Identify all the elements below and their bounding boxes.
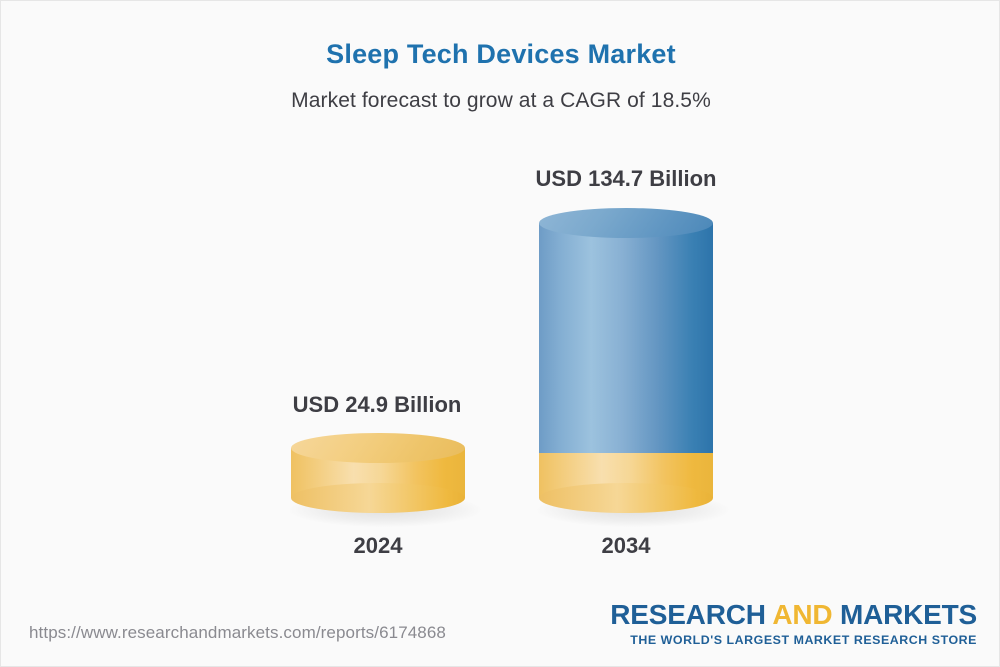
value-label-2034: USD 134.7 Billion [526, 166, 726, 192]
bar-segment-growth-body [539, 223, 713, 454]
logo-text-research: RESEARCH [610, 599, 772, 630]
x-axis-label-2034: 2034 [526, 533, 726, 559]
chart-subtitle: Market forecast to grow at a CAGR of 18.… [1, 89, 1000, 113]
logo-text-and: AND [772, 599, 832, 630]
page-title: Sleep Tech Devices Market [1, 39, 1000, 70]
chart-canvas: Sleep Tech Devices Market Market forecas… [0, 0, 1000, 667]
value-label-2024: USD 24.9 Billion [277, 392, 477, 418]
research-and-markets-logo[interactable]: RESEARCH AND MARKETS THE WORLD'S LARGEST… [610, 601, 977, 647]
bar-top-cap-2034 [539, 208, 713, 238]
bar-bottom-cap-2034 [539, 483, 713, 513]
logo-wordmark: RESEARCH AND MARKETS [610, 601, 977, 629]
x-axis-label-2024: 2024 [278, 533, 478, 559]
bar-bottom-cap-2024 [291, 483, 465, 513]
logo-text-markets: MARKETS [832, 599, 977, 630]
source-url[interactable]: https://www.researchandmarkets.com/repor… [29, 623, 446, 643]
logo-tagline: THE WORLD'S LARGEST MARKET RESEARCH STOR… [610, 633, 977, 647]
bar-top-cap-2024 [291, 433, 465, 463]
bar-2034[interactable] [539, 208, 713, 513]
bar-2024[interactable] [291, 433, 465, 513]
